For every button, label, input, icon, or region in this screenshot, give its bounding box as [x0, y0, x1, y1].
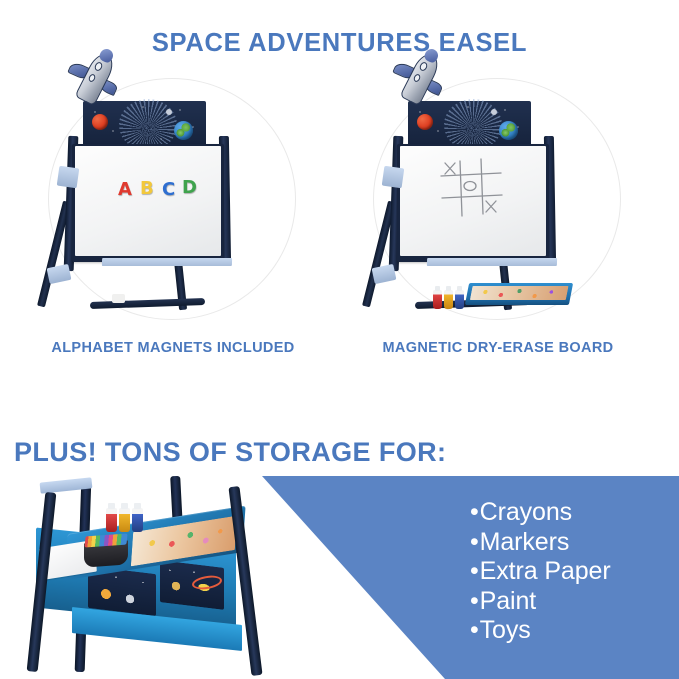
magnet-letter: B — [140, 178, 154, 199]
easel-hinge-upper — [57, 166, 80, 189]
paint-tray-group — [431, 277, 581, 317]
bullet-icon: • — [470, 616, 479, 646]
mars-planet-icon — [92, 114, 108, 130]
easel-illustration-magnets: A B C D — [28, 72, 318, 322]
board-ledge — [102, 258, 232, 266]
magnet-letter: D — [182, 177, 197, 198]
paint-bottle-yellow — [444, 290, 453, 309]
bullet-icon: • — [470, 498, 479, 528]
bullet-icon: • — [470, 557, 479, 587]
list-item: • Markers — [470, 528, 670, 558]
list-item-label: Extra Paper — [480, 557, 611, 587]
paint-bottles-group — [106, 498, 156, 532]
tic-tac-toe-drawing — [439, 158, 505, 220]
easel-foot-cap — [112, 294, 125, 303]
supply-tray — [465, 283, 573, 305]
feature-panel-dry-erase-board — [353, 72, 643, 322]
feature-panel-alphabet-magnets: A B C D — [28, 72, 318, 322]
list-item-label: Paint — [480, 587, 536, 617]
rocket-icon — [391, 50, 449, 110]
feature-caption-alphabet-magnets: ALPHABET MAGNETS INCLUDED — [28, 340, 318, 356]
moon-icon — [491, 109, 497, 115]
easel-hinge-lower — [47, 264, 72, 284]
easel-foot-bar — [90, 298, 205, 309]
rocket-icon — [66, 50, 124, 110]
paint-bottle-red — [106, 508, 117, 532]
infographic-page: SPACE ADVENTURES EASEL — [0, 0, 679, 679]
supply-tray-contents — [470, 286, 569, 300]
paint-bottle-blue — [132, 508, 143, 532]
board-ledge — [427, 258, 557, 266]
moon-icon — [166, 109, 172, 115]
paint-bottle-blue — [455, 290, 464, 309]
storage-heading: PLUS! TONS OF STORAGE FOR: — [14, 437, 446, 468]
easel-hinge-upper — [382, 166, 405, 189]
storage-items-list: • Crayons • Markers • Extra Paper • Pain… — [470, 498, 670, 646]
bullet-icon: • — [470, 587, 479, 617]
earth-planet-icon — [174, 121, 193, 140]
earth-planet-icon — [499, 121, 518, 140]
list-item: • Toys — [470, 616, 670, 646]
bullet-icon: • — [470, 528, 479, 558]
list-item: • Crayons — [470, 498, 670, 528]
easel-hinge-lower — [372, 264, 397, 284]
crayon-bowl — [84, 540, 128, 567]
list-item-label: Markers — [480, 528, 570, 558]
magnet-letter: C — [162, 179, 175, 200]
storage-table-illustration — [22, 472, 322, 679]
alphabet-magnets-group: A B C D — [116, 178, 206, 204]
paint-bottle-red — [433, 290, 442, 309]
magnet-letter: A — [118, 179, 132, 200]
list-item: • Extra Paper — [470, 557, 670, 587]
feature-caption-dry-erase-board: MAGNETIC DRY-ERASE BOARD — [353, 340, 643, 356]
paint-bottle-yellow — [119, 508, 130, 532]
list-item: • Paint — [470, 587, 670, 617]
easel-illustration-dry-erase — [353, 72, 643, 322]
list-item-label: Crayons — [480, 498, 572, 528]
mars-planet-icon — [417, 114, 433, 130]
list-item-label: Toys — [480, 616, 531, 646]
